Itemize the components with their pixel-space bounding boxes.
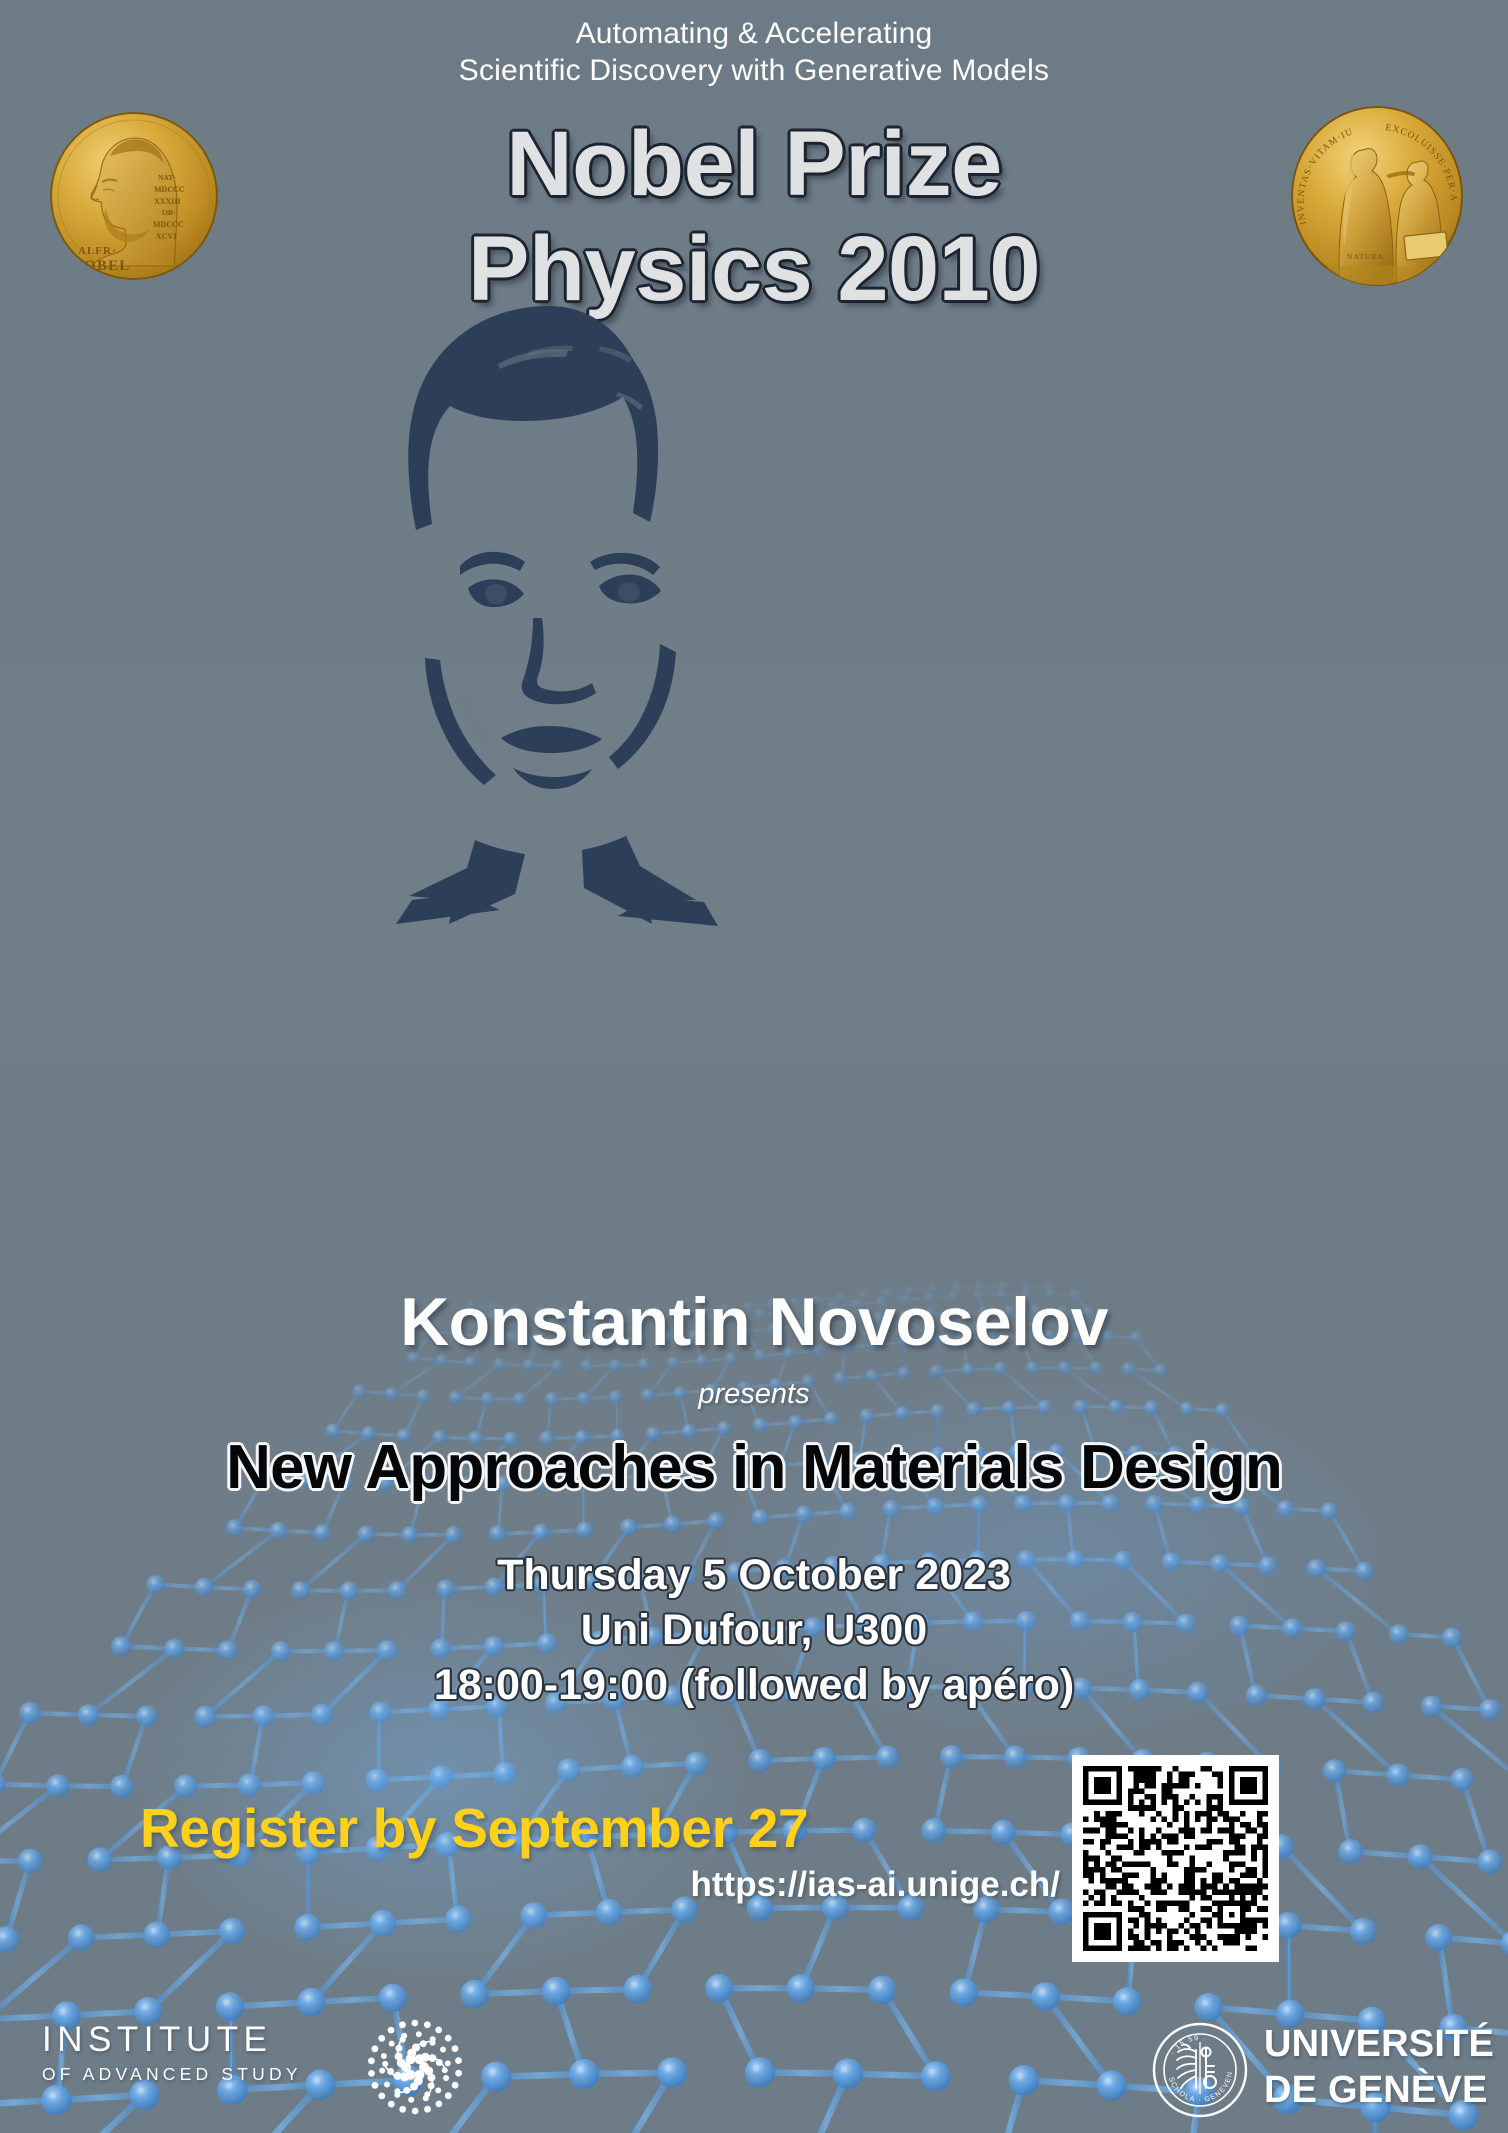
konstantin-novoselov-portrait bbox=[300, 300, 800, 930]
unige-logo: · 15 59 · SCHOLA · GENEVENSIS UNIVERSITÉ… bbox=[1152, 2020, 1482, 2130]
event-details: Thursday 5 October 2023 Uni Dufour, U300… bbox=[0, 1548, 1508, 1713]
page-title: Nobel Prize Physics 2010 bbox=[0, 112, 1508, 322]
event-date: Thursday 5 October 2023 bbox=[0, 1548, 1508, 1603]
ias-logo: INSTITUTE OF ADVANCED STUDY bbox=[42, 2022, 342, 2084]
qr-code-registration[interactable] bbox=[1072, 1755, 1279, 1962]
poster-root: Automating & Accelerating Scientific Dis… bbox=[0, 0, 1508, 2133]
unige-logo-text: UNIVERSITÉ DE GENÈVE bbox=[1264, 2021, 1494, 2114]
poster-subtitle: Automating & Accelerating Scientific Dis… bbox=[0, 16, 1508, 89]
ias-logo-line-2: OF ADVANCED STUDY bbox=[42, 2066, 342, 2084]
event-venue: Uni Dufour, U300 bbox=[0, 1603, 1508, 1658]
subtitle-line-1: Automating & Accelerating bbox=[0, 16, 1508, 53]
presents-label: presents bbox=[0, 1378, 1508, 1411]
subtitle-line-2: Scientific Discovery with Generative Mod… bbox=[0, 53, 1508, 90]
event-time: 18:00-19:00 (followed by apéro) bbox=[0, 1658, 1508, 1713]
registration-url[interactable]: https://ias-ai.unige.ch/ bbox=[140, 1865, 1060, 1905]
ias-logo-line-1: INSTITUTE bbox=[42, 2022, 342, 2057]
unige-logo-line-2: DE GENÈVE bbox=[1264, 2067, 1494, 2113]
unige-logo-line-1: UNIVERSITÉ bbox=[1264, 2021, 1494, 2067]
talk-title: New Approaches in Materials Design bbox=[0, 1432, 1508, 1503]
unige-seal-icon: · 15 59 · SCHOLA · GENEVENSIS bbox=[1152, 2022, 1248, 2118]
register-call-to-action: Register by September 27 bbox=[140, 1796, 808, 1860]
title-line-1: Nobel Prize bbox=[0, 112, 1508, 217]
ias-spiral-dots-icon bbox=[360, 2012, 470, 2122]
speaker-name: Konstantin Novoselov bbox=[0, 1283, 1508, 1361]
